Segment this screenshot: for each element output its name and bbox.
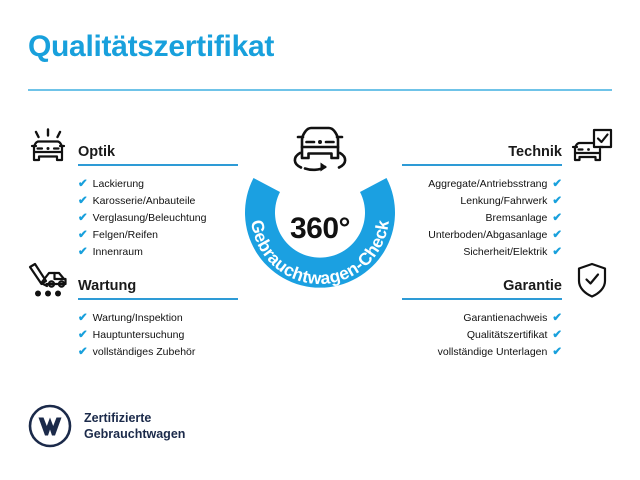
list-item-label: vollständige Unterlagen bbox=[438, 344, 548, 361]
list-item: ✔Bremsanlage bbox=[402, 210, 614, 227]
list-item-label: Innenraum bbox=[93, 244, 143, 261]
vw-logo-icon bbox=[28, 404, 72, 448]
section-header-wartung: Wartung bbox=[26, 262, 238, 302]
list-item: ✔Sicherheit/Elektrik bbox=[402, 244, 614, 261]
list-item: ✔Lenkung/Fahrwerk bbox=[402, 193, 614, 210]
list-item-label: Aggregate/Antriebsstrang bbox=[428, 176, 547, 193]
check-icon: ✔ bbox=[552, 230, 562, 242]
check-icon: ✔ bbox=[552, 247, 562, 259]
shield-check-icon bbox=[570, 262, 614, 300]
list-item: ✔Unterboden/Abgasanlage bbox=[402, 227, 614, 244]
check-icon: ✔ bbox=[78, 179, 88, 191]
list-item: ✔Garantienachweis bbox=[402, 310, 614, 327]
service-record-icon bbox=[26, 262, 70, 300]
certificate-page: Qualitätszertifikat bbox=[0, 0, 640, 480]
footer-line-2: Gebrauchtwagen bbox=[84, 426, 185, 442]
section-underline-technik bbox=[402, 164, 562, 166]
section-underline-optik bbox=[78, 164, 238, 166]
page-title: Qualitätszertifikat bbox=[28, 32, 274, 62]
footer-line-1: Zertifizierte bbox=[84, 410, 185, 426]
list-item-label: Wartung/Inspektion bbox=[93, 310, 183, 327]
list-item: ✔Qualitätszertifikat bbox=[402, 327, 614, 344]
list-item-label: Sicherheit/Elektrik bbox=[463, 244, 547, 261]
check-icon: ✔ bbox=[78, 313, 88, 325]
section-title-garantie: Garantie bbox=[503, 278, 562, 294]
footer-brand: Zertifizierte Gebrauchtwagen bbox=[28, 404, 185, 448]
section-underline-wartung bbox=[78, 298, 238, 300]
car-rotate-icon bbox=[287, 120, 353, 178]
section-underline-garantie bbox=[402, 298, 562, 300]
check-icon: ✔ bbox=[78, 230, 88, 242]
list-item-label: Unterboden/Abgasanlage bbox=[428, 227, 547, 244]
check-icon: ✔ bbox=[78, 247, 88, 259]
list-item-label: Felgen/Reifen bbox=[93, 227, 158, 244]
section-header-garantie: Garantie bbox=[402, 262, 614, 302]
list-item: ✔Innenraum bbox=[26, 244, 238, 261]
check-icon: ✔ bbox=[78, 213, 88, 225]
title-divider bbox=[28, 89, 612, 91]
list-item: ✔Lackierung bbox=[26, 176, 238, 193]
check-icon: ✔ bbox=[552, 313, 562, 325]
check-icon: ✔ bbox=[552, 179, 562, 191]
checklist-optik: ✔Lackierung ✔Karosserie/Anbauteile ✔Verg… bbox=[26, 176, 238, 261]
list-item-label: vollständiges Zubehör bbox=[93, 344, 196, 361]
check-icon: ✔ bbox=[78, 196, 88, 208]
checklist-wartung: ✔Wartung/Inspektion ✔Hauptuntersuchung ✔… bbox=[26, 310, 238, 361]
car-checkbox-icon bbox=[570, 128, 614, 166]
badge-center-text: 360° bbox=[225, 212, 415, 246]
section-title-optik: Optik bbox=[78, 144, 115, 160]
list-item-label: Karosserie/Anbauteile bbox=[93, 193, 196, 210]
list-item-label: Qualitätszertifikat bbox=[467, 327, 548, 344]
car-shine-icon bbox=[26, 128, 70, 166]
section-header-optik: Optik bbox=[26, 128, 238, 168]
list-item-label: Garantienachweis bbox=[463, 310, 547, 327]
section-garantie: Garantie ✔Garantienachweis ✔Qualitätszer… bbox=[402, 262, 614, 361]
list-item: ✔vollständiges Zubehör bbox=[26, 344, 238, 361]
section-title-wartung: Wartung bbox=[78, 278, 136, 294]
list-item: ✔Hauptuntersuchung bbox=[26, 327, 238, 344]
check-icon: ✔ bbox=[78, 347, 88, 359]
footer-text: Zertifizierte Gebrauchtwagen bbox=[84, 410, 185, 442]
list-item: ✔vollständige Unterlagen bbox=[402, 344, 614, 361]
section-optik: Optik ✔Lackierung ✔Karosserie/Anbauteile… bbox=[26, 128, 238, 261]
badge-360-check: Gebrauchtwagen-Check 360° bbox=[225, 120, 415, 310]
list-item: ✔Wartung/Inspektion bbox=[26, 310, 238, 327]
list-item: ✔Aggregate/Antriebsstrang bbox=[402, 176, 614, 193]
section-header-technik: Technik bbox=[402, 128, 614, 168]
list-item: ✔Felgen/Reifen bbox=[26, 227, 238, 244]
check-icon: ✔ bbox=[552, 196, 562, 208]
section-title-technik: Technik bbox=[508, 144, 562, 160]
list-item-label: Lackierung bbox=[93, 176, 144, 193]
list-item-label: Verglasung/Beleuchtung bbox=[93, 210, 207, 227]
section-technik: Technik ✔Aggregate/Antriebsstrang ✔Lenku… bbox=[402, 128, 614, 261]
list-item-label: Bremsanlage bbox=[485, 210, 547, 227]
list-item-label: Hauptuntersuchung bbox=[93, 327, 185, 344]
checklist-garantie: ✔Garantienachweis ✔Qualitätszertifikat ✔… bbox=[402, 310, 614, 361]
check-icon: ✔ bbox=[552, 213, 562, 225]
list-item: ✔Karosserie/Anbauteile bbox=[26, 193, 238, 210]
checklist-technik: ✔Aggregate/Antriebsstrang ✔Lenkung/Fahrw… bbox=[402, 176, 614, 261]
section-wartung: Wartung ✔Wartung/Inspektion ✔Hauptunters… bbox=[26, 262, 238, 361]
list-item-label: Lenkung/Fahrwerk bbox=[460, 193, 547, 210]
check-icon: ✔ bbox=[78, 330, 88, 342]
list-item: ✔Verglasung/Beleuchtung bbox=[26, 210, 238, 227]
check-icon: ✔ bbox=[552, 330, 562, 342]
check-icon: ✔ bbox=[552, 347, 562, 359]
